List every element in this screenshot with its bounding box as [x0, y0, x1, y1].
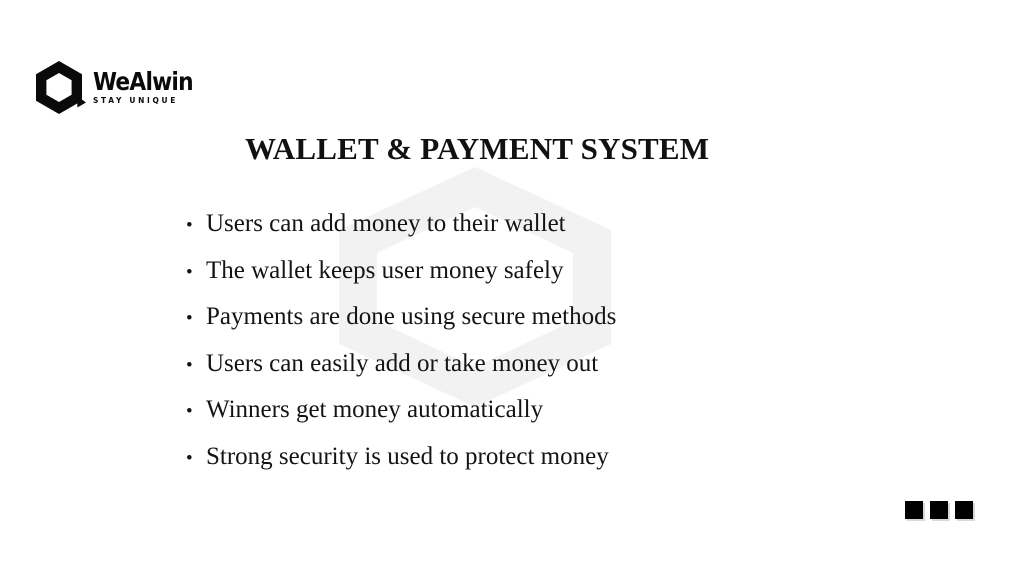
- bullet-point-icon: •: [186, 211, 206, 241]
- logo-wordmark: WeAlwin STAY UNIQUE: [93, 69, 208, 106]
- bullet-point-icon: •: [186, 258, 206, 288]
- bullet-point-icon: •: [186, 444, 206, 474]
- list-item: • Users can add money to their wallet: [186, 209, 616, 256]
- list-item-label: Users can add money to their wallet: [206, 209, 566, 239]
- decorative-squares: [905, 501, 973, 519]
- brand-logo: WeAlwin STAY UNIQUE: [33, 60, 208, 114]
- hexagon-outline-icon: [33, 60, 87, 114]
- list-item-label: Winners get money automatically: [206, 395, 543, 425]
- list-item: • The wallet keeps user money safely: [186, 256, 616, 303]
- page-title: WALLET & PAYMENT SYSTEM: [245, 130, 709, 168]
- list-item-label: Payments are done using secure methods: [206, 302, 616, 332]
- bullet-list: • Users can add money to their wallet • …: [186, 209, 616, 489]
- list-item: • Winners get money automatically: [186, 395, 616, 442]
- slide-canvas: WeAlwin STAY UNIQUE WALLET & PAYMENT SYS…: [0, 0, 1024, 576]
- list-item: • Strong security is used to protect mon…: [186, 442, 616, 489]
- list-item-label: Users can easily add or take money out: [206, 349, 598, 379]
- list-item-label: Strong security is used to protect money: [206, 442, 609, 472]
- decorative-square-icon: [930, 501, 948, 519]
- list-item: • Payments are done using secure methods: [186, 302, 616, 349]
- bullet-point-icon: •: [186, 351, 206, 381]
- list-item: • Users can easily add or take money out: [186, 349, 616, 396]
- logo-tagline: STAY UNIQUE: [93, 96, 200, 106]
- list-item-label: The wallet keeps user money safely: [206, 256, 564, 286]
- decorative-square-icon: [955, 501, 973, 519]
- bullet-point-icon: •: [186, 397, 206, 427]
- decorative-square-icon: [905, 501, 923, 519]
- logo-name: WeAlwin: [93, 69, 193, 95]
- bullet-point-icon: •: [186, 304, 206, 334]
